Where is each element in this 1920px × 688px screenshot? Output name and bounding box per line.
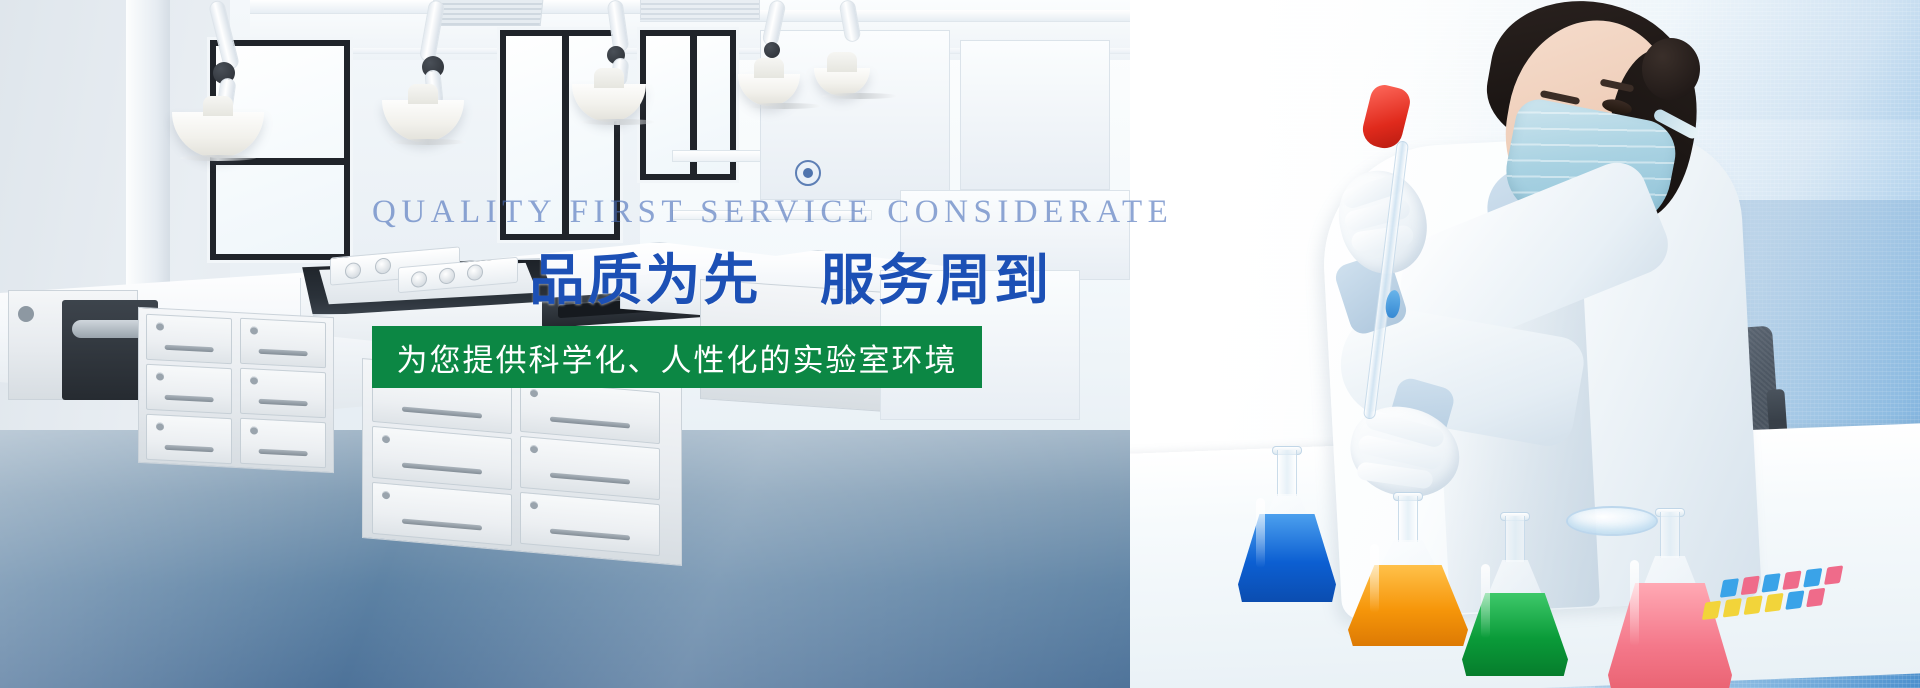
equipment-handle	[72, 320, 146, 338]
cabinet-handle	[18, 306, 34, 322]
drawer[interactable]	[146, 314, 232, 365]
drawer[interactable]	[146, 414, 232, 465]
hero-banner: QUALITY FIRST SERVICE CONSIDERATE 品质为先 服…	[0, 0, 1920, 688]
erlenmeyer-flask-icon	[1348, 496, 1468, 646]
scientist-scene	[1130, 0, 1920, 688]
headline-part-1: 品质为先	[529, 249, 761, 311]
headline: 品质为先 服务周到	[372, 249, 1052, 312]
ceiling-vent-icon	[640, 0, 760, 20]
banner-text-block: QUALITY FIRST SERVICE CONSIDERATE 品质为先 服…	[372, 196, 1052, 388]
drawer[interactable]	[240, 418, 326, 469]
english-tagline: QUALITY FIRST SERVICE CONSIDERATE	[372, 196, 1052, 229]
hall-cabinet	[960, 40, 1110, 190]
ceiling-column	[126, 0, 170, 330]
erlenmeyer-flask-icon	[1462, 516, 1568, 676]
subtitle-text: 为您提供科学化、人性化的实验室环境	[397, 335, 958, 380]
drawer[interactable]	[146, 364, 232, 415]
drawer[interactable]	[240, 368, 326, 419]
hair-bun	[1642, 38, 1700, 100]
wall-logo-icon	[795, 160, 821, 186]
drawer[interactable]	[240, 318, 326, 369]
erlenmeyer-flask-icon	[1238, 450, 1336, 602]
subtitle-bar: 为您提供科学化、人性化的实验室环境	[372, 326, 982, 388]
headline-part-2: 服务周到	[820, 249, 1052, 311]
